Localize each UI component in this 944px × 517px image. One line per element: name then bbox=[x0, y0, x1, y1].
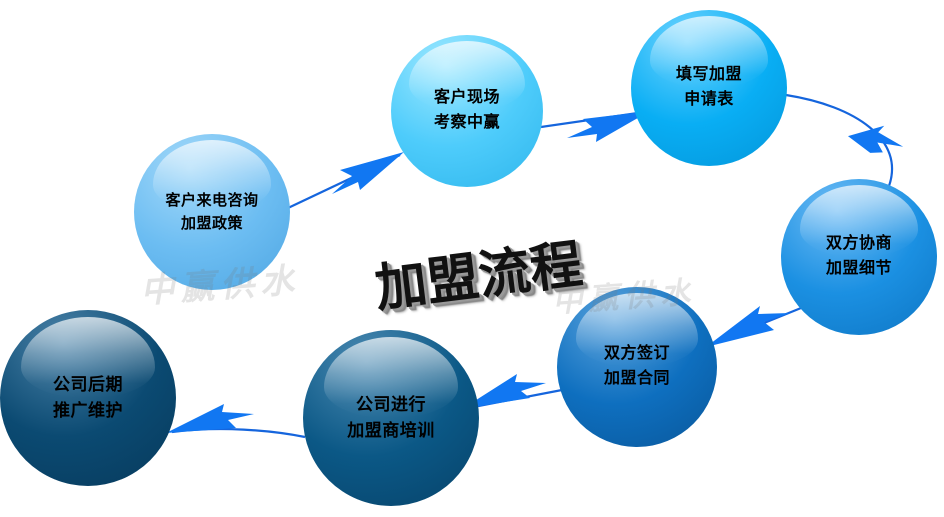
node-label-line1: 客户现场 bbox=[434, 86, 500, 111]
node-label-line1: 公司后期 bbox=[53, 372, 123, 398]
franchise-process-diagram: 中赢供水 中赢供水 客户来电咨询 加盟政策 客户现场 考察中赢 填写加盟 申请表… bbox=[0, 0, 944, 517]
arrow-step3-to-step4 bbox=[786, 95, 907, 186]
node-label-line1: 双方签订 bbox=[604, 342, 670, 367]
arrow-step4-to-step5 bbox=[706, 306, 806, 347]
node-label-line1: 填写加盟 bbox=[676, 63, 742, 88]
node-label-line2: 加盟合同 bbox=[604, 367, 670, 392]
node-franchisee-training[interactable]: 公司进行 加盟商培训 bbox=[303, 330, 479, 506]
node-label-line2: 加盟细节 bbox=[826, 257, 892, 282]
node-label-line2: 推广维护 bbox=[53, 398, 123, 424]
arrow-step2-to-step3 bbox=[541, 111, 650, 142]
node-negotiate-details[interactable]: 双方协商 加盟细节 bbox=[781, 179, 937, 335]
arrow-step1-to-step2 bbox=[288, 152, 404, 208]
node-label-line2: 加盟商培训 bbox=[347, 418, 435, 444]
node-customer-call-inquiry[interactable]: 客户来电咨询 加盟政策 bbox=[134, 134, 290, 290]
node-label-line2: 申请表 bbox=[684, 88, 734, 113]
node-label-line2: 考察中赢 bbox=[434, 111, 500, 136]
node-fill-application-form[interactable]: 填写加盟 申请表 bbox=[631, 10, 787, 166]
arrow-step6-to-step7 bbox=[166, 404, 305, 437]
node-label-line1: 双方协商 bbox=[826, 232, 892, 257]
node-post-support-maintenance[interactable]: 公司后期 推广维护 bbox=[0, 310, 176, 486]
node-label-line2: 加盟政策 bbox=[181, 212, 243, 235]
node-label-line1: 客户来电咨询 bbox=[165, 189, 258, 212]
node-sign-contract[interactable]: 双方签订 加盟合同 bbox=[557, 287, 717, 447]
node-label-line1: 公司进行 bbox=[356, 392, 426, 418]
node-customer-site-visit[interactable]: 客户现场 考察中赢 bbox=[391, 35, 543, 187]
